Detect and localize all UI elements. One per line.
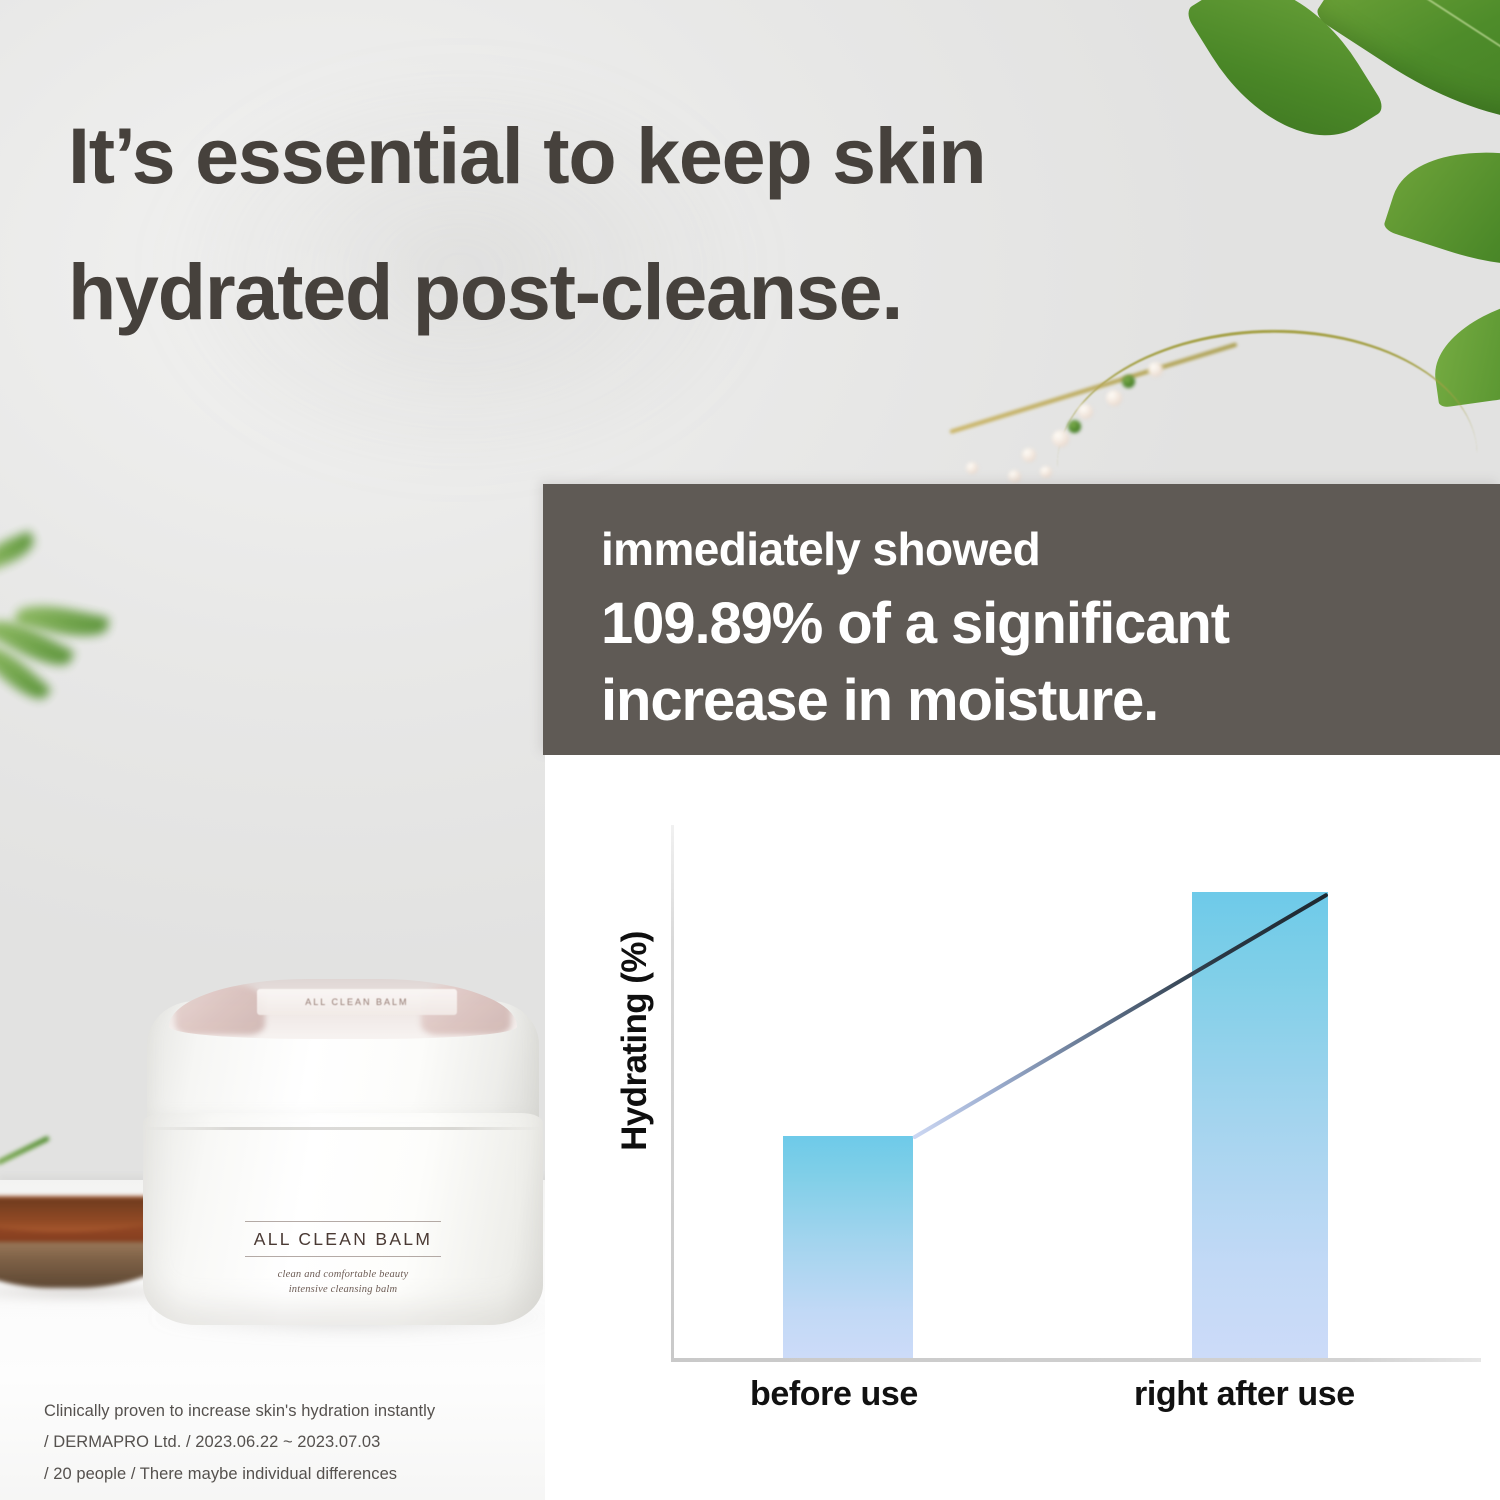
jar-lid-top: ALL CLEAN BALM (169, 979, 517, 1039)
chart-y-axis-label: Hydrating (%) (615, 881, 655, 1201)
disclaimer-line-3: / 20 people / There maybe individual dif… (44, 1459, 544, 1490)
claim-callout: immediately showed 109.89% of a signific… (543, 484, 1500, 755)
claim-statistic-text: 109.89% of a significant increase in moi… (601, 585, 1500, 739)
product-name: ALL CLEAN BALM (143, 1222, 543, 1256)
chart-y-axis-line (671, 825, 674, 1361)
leaf-icon (1382, 117, 1500, 300)
jar-seam (145, 1127, 541, 1130)
flower-bud-icon (1122, 375, 1135, 388)
flower-bud-icon (1022, 448, 1036, 462)
chart-x-tick-label: before use (750, 1375, 918, 1414)
disclaimer-line-2: / DERMAPRO Ltd. / 2023.06.22 ~ 2023.07.0… (44, 1427, 544, 1458)
product-jar: ALL CLEAN BALM ALL CLEAN BALM clean and … (143, 985, 543, 1325)
jar-lid-label: ALL CLEAN BALM (257, 989, 457, 1015)
page-title: It’s essential to keep skin hydrated pos… (68, 88, 1248, 360)
flower-bud-icon (1052, 430, 1069, 447)
flower-bud-icon (966, 462, 978, 474)
disclaimer-line-1: Clinically proven to increase skin's hyd… (44, 1396, 544, 1427)
plant-sprig (0, 1136, 50, 1166)
chart-x-axis-line (671, 1358, 1481, 1362)
study-disclaimer: Clinically proven to increase skin's hyd… (44, 1396, 544, 1490)
promo-image-root: ALL CLEAN BALM ALL CLEAN BALM clean and … (0, 0, 1500, 1500)
flower-bud-icon (1078, 404, 1093, 419)
hydration-bar-chart: Hydrating (%) before use right after use (545, 755, 1500, 1500)
flower-bud-icon (1040, 466, 1052, 478)
flower-bud-icon (1106, 390, 1122, 406)
flower-bud-icon (1148, 362, 1163, 377)
label-rule-bottom (245, 1256, 441, 1257)
lid-artwork-left (175, 983, 265, 1035)
flower-bud-icon (1008, 470, 1021, 483)
jar-label-block: ALL CLEAN BALM clean and comfortable bea… (143, 1221, 543, 1297)
claim-lead-text: immediately showed (601, 520, 1500, 579)
label-rule-top (245, 1221, 441, 1222)
chart-bar-before-use (783, 1136, 913, 1358)
leaf-icon (0, 531, 38, 572)
flower-bud-icon (1068, 420, 1081, 433)
chart-x-tick-label: right after use (1134, 1375, 1355, 1414)
product-tagline: clean and comfortable beauty intensive c… (143, 1267, 543, 1297)
